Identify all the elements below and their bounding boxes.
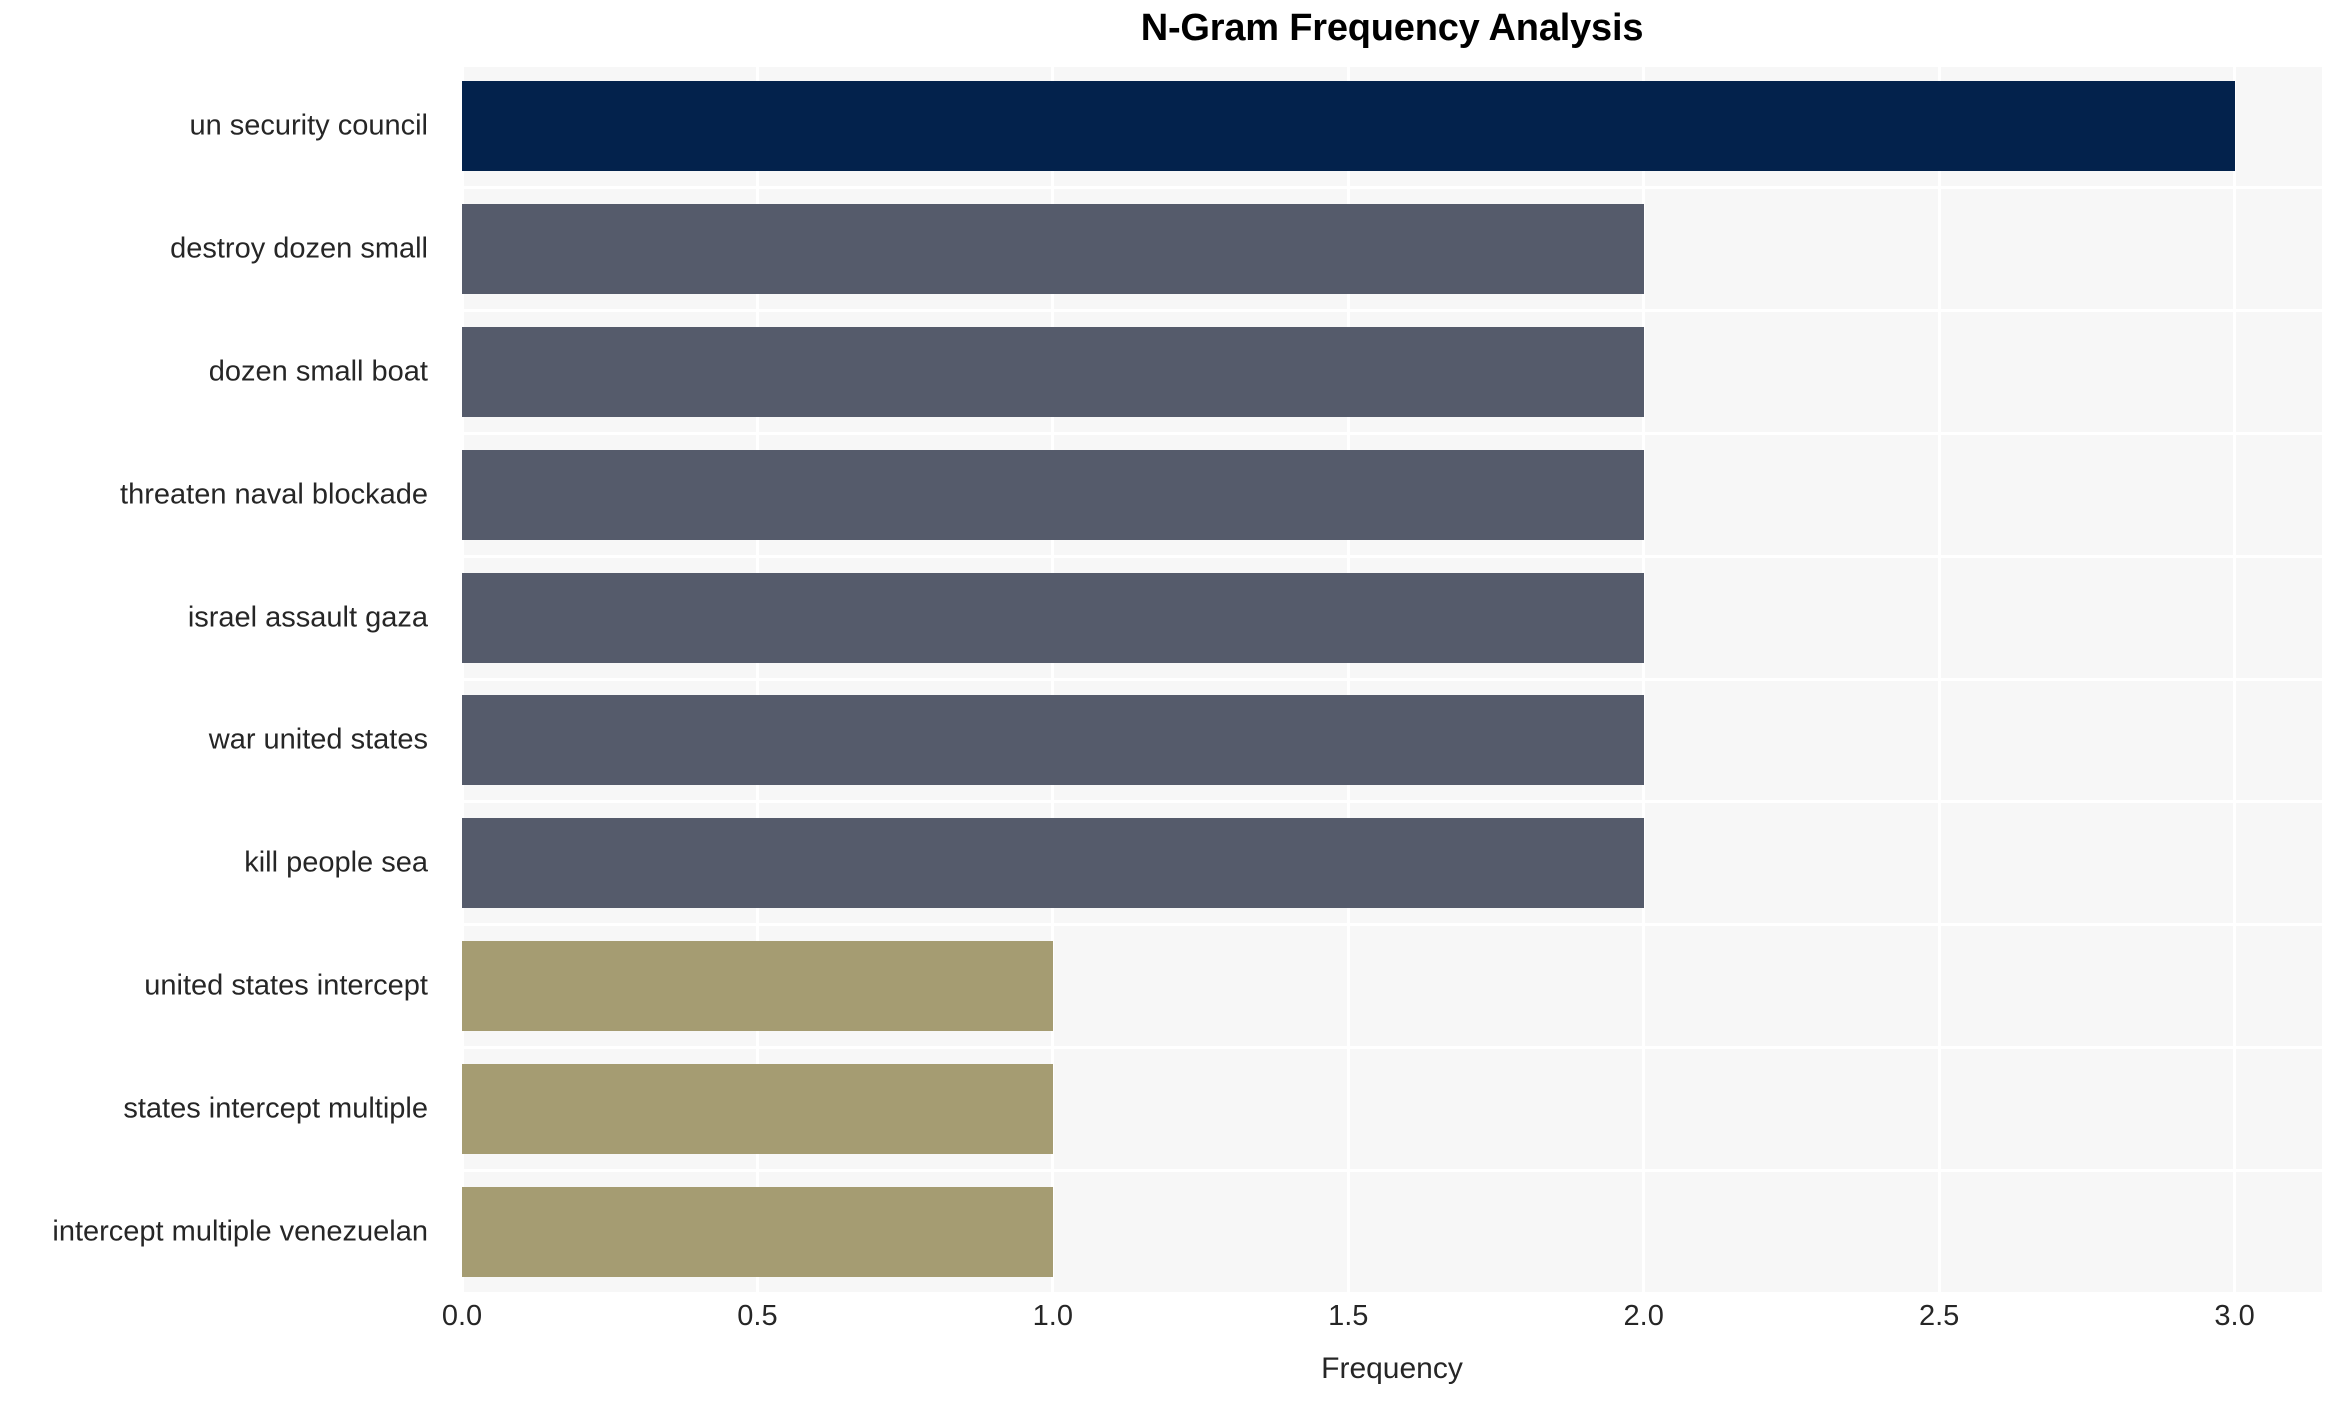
y-axis-tick-label: intercept multiple venezuelan <box>0 1215 428 1248</box>
chart-figure: N-Gram Frequency Analysis un security co… <box>0 0 2341 1402</box>
y-axis-tick-label: threaten naval blockade <box>0 478 428 511</box>
y-axis-tick-label: israel assault gaza <box>0 601 428 634</box>
horizontal-gridline <box>462 1292 2322 1294</box>
y-axis-tick-label: united states intercept <box>0 970 428 1003</box>
y-axis-tick-label: destroy dozen small <box>0 233 428 266</box>
horizontal-gridline <box>462 65 2322 67</box>
y-axis-tick-label: dozen small boat <box>0 356 428 389</box>
x-axis-label: Frequency <box>462 1352 2322 1386</box>
x-axis-tick-label: 2.5 <box>1919 1300 1959 1333</box>
x-axis-tick-label: 0.0 <box>442 1300 482 1333</box>
chart-title: N-Gram Frequency Analysis <box>462 2 2322 54</box>
horizontal-gridline <box>462 555 2322 558</box>
bar <box>462 941 1053 1031</box>
horizontal-gridline <box>462 432 2322 435</box>
x-axis-tick-label: 0.5 <box>737 1300 777 1333</box>
horizontal-gridline <box>462 1046 2322 1049</box>
y-axis-tick-label: kill people sea <box>0 847 428 880</box>
horizontal-gridline <box>462 309 2322 312</box>
bar <box>462 81 2235 171</box>
x-axis-tick-label: 2.0 <box>1624 1300 1664 1333</box>
bar <box>462 204 1644 294</box>
bar <box>462 450 1644 540</box>
bar <box>462 695 1644 785</box>
y-axis-tick-label: states intercept multiple <box>0 1092 428 1125</box>
y-axis-tick-labels: un security councildestroy dozen smalldo… <box>0 65 448 1293</box>
bar <box>462 327 1644 417</box>
plot-area <box>462 65 2322 1293</box>
horizontal-gridline <box>462 800 2322 803</box>
horizontal-gridline <box>462 923 2322 926</box>
x-axis-tick-label: 1.0 <box>1033 1300 1073 1333</box>
x-axis-tick-labels: 0.00.51.01.52.02.53.0 <box>462 1300 2322 1346</box>
horizontal-gridline <box>462 678 2322 681</box>
x-axis-tick-label: 3.0 <box>2214 1300 2254 1333</box>
bar <box>462 1064 1053 1154</box>
horizontal-gridline <box>462 1169 2322 1172</box>
bar <box>462 1187 1053 1277</box>
bar <box>462 818 1644 908</box>
y-axis-tick-label: un security council <box>0 110 428 143</box>
x-axis-tick-label: 1.5 <box>1328 1300 1368 1333</box>
y-axis-tick-label: war united states <box>0 724 428 757</box>
horizontal-gridline <box>462 186 2322 189</box>
bar <box>462 573 1644 663</box>
